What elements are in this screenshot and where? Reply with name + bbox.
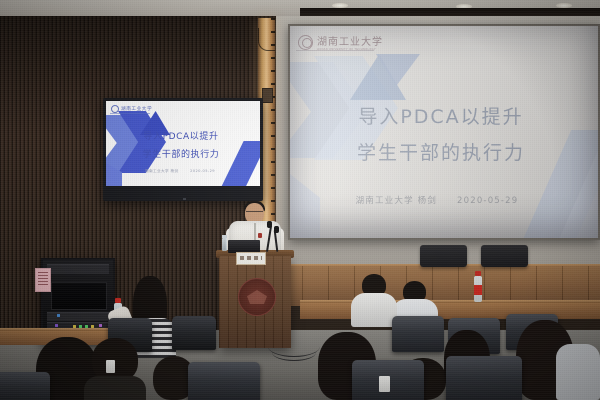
paper-cup (106, 360, 115, 373)
podium-university-emblem-icon (238, 278, 276, 316)
university-seal-icon (111, 105, 119, 113)
paper-cup (379, 376, 390, 392)
university-seal-icon (298, 35, 313, 50)
empty-chair (420, 245, 467, 267)
auditorium-seat (446, 356, 522, 400)
wall-tv-bezel: 湖南工业大学 导入PDCA以提升 学生干部的执行力 湖南工业大学 杨剑 2020… (103, 98, 263, 201)
slide-title-line2: 学生干部的执行力 (290, 138, 592, 165)
tv-subtitle-date: 2020-05-29 (190, 169, 215, 173)
speaker-glasses (246, 211, 263, 216)
empty-chair (481, 245, 528, 267)
audience-torso (84, 376, 146, 400)
tv-logo-divider (110, 113, 150, 114)
pillar-wire (258, 28, 275, 51)
rack-led (57, 314, 60, 317)
slide-subtitle-affiliation: 湖南工业大学 杨剑 (356, 196, 438, 206)
tv-title-line2: 学生干部的执行力 (106, 147, 256, 160)
slide-logo: 湖南工业大学 HUNAN UNIVERSITY OF TECHNOLOGY (298, 33, 383, 51)
slide-logo-divider (296, 50, 374, 51)
slide-logo-text-cn: 湖南工业大学 (317, 33, 383, 48)
rack-led (99, 324, 102, 327)
rack-display (51, 282, 107, 310)
slide-subtitle: 湖南工业大学 杨剑 2020-05-29 (290, 194, 584, 206)
tv-power-led (183, 198, 186, 200)
microphone-head (267, 221, 272, 228)
auditorium-seat (392, 316, 444, 352)
projection-screen-frame: 湖南工业大学 HUNAN UNIVERSITY OF TECHNOLOGY 导入… (288, 24, 600, 240)
water-bottle (474, 276, 482, 302)
auditorium-seat (188, 362, 260, 400)
bottle-cap (475, 271, 481, 276)
podium-water-bottle (222, 238, 227, 251)
rack-warning-label (35, 268, 51, 292)
rack-led (55, 324, 58, 327)
audience-torso (556, 344, 600, 400)
wall-tv-screen: 湖南工业大学 导入PDCA以提升 学生干部的执行力 湖南工业大学 杨剑 2020… (106, 101, 260, 186)
slide-subtitle-date: 2020-05-29 (457, 196, 518, 206)
bottle-cap (115, 298, 121, 303)
tv-logo-text: 湖南工业大学 (121, 106, 152, 112)
auditorium-seat (0, 372, 50, 400)
rack-unit (47, 264, 109, 274)
microphone-head (274, 226, 279, 233)
slide-corner-accent (290, 174, 320, 238)
slide-title-line1: 导入PDCA以提升 (290, 102, 592, 129)
pillar-fixture (262, 88, 273, 103)
audience-torso (351, 293, 397, 327)
podium-nameplate (236, 252, 266, 265)
lapel-badge (258, 233, 262, 238)
tv-title-line1: 导入PDCA以提升 (106, 129, 256, 142)
tv-subtitle: 湖南工业大学 杨剑 2020-05-29 (106, 169, 254, 174)
lecture-hall-photo: 湖南工业大学 HUNAN UNIVERSITY OF TECHNOLOGY 导入… (0, 0, 600, 400)
tv-subtitle-affiliation: 湖南工业大学 杨剑 (145, 169, 179, 173)
bottle-label (474, 285, 482, 295)
projection-screen-surface: 湖南工业大学 HUNAN UNIVERSITY OF TECHNOLOGY 导入… (290, 26, 598, 238)
auditorium-seat (172, 316, 216, 350)
tv-logo: 湖南工业大学 (111, 105, 152, 113)
